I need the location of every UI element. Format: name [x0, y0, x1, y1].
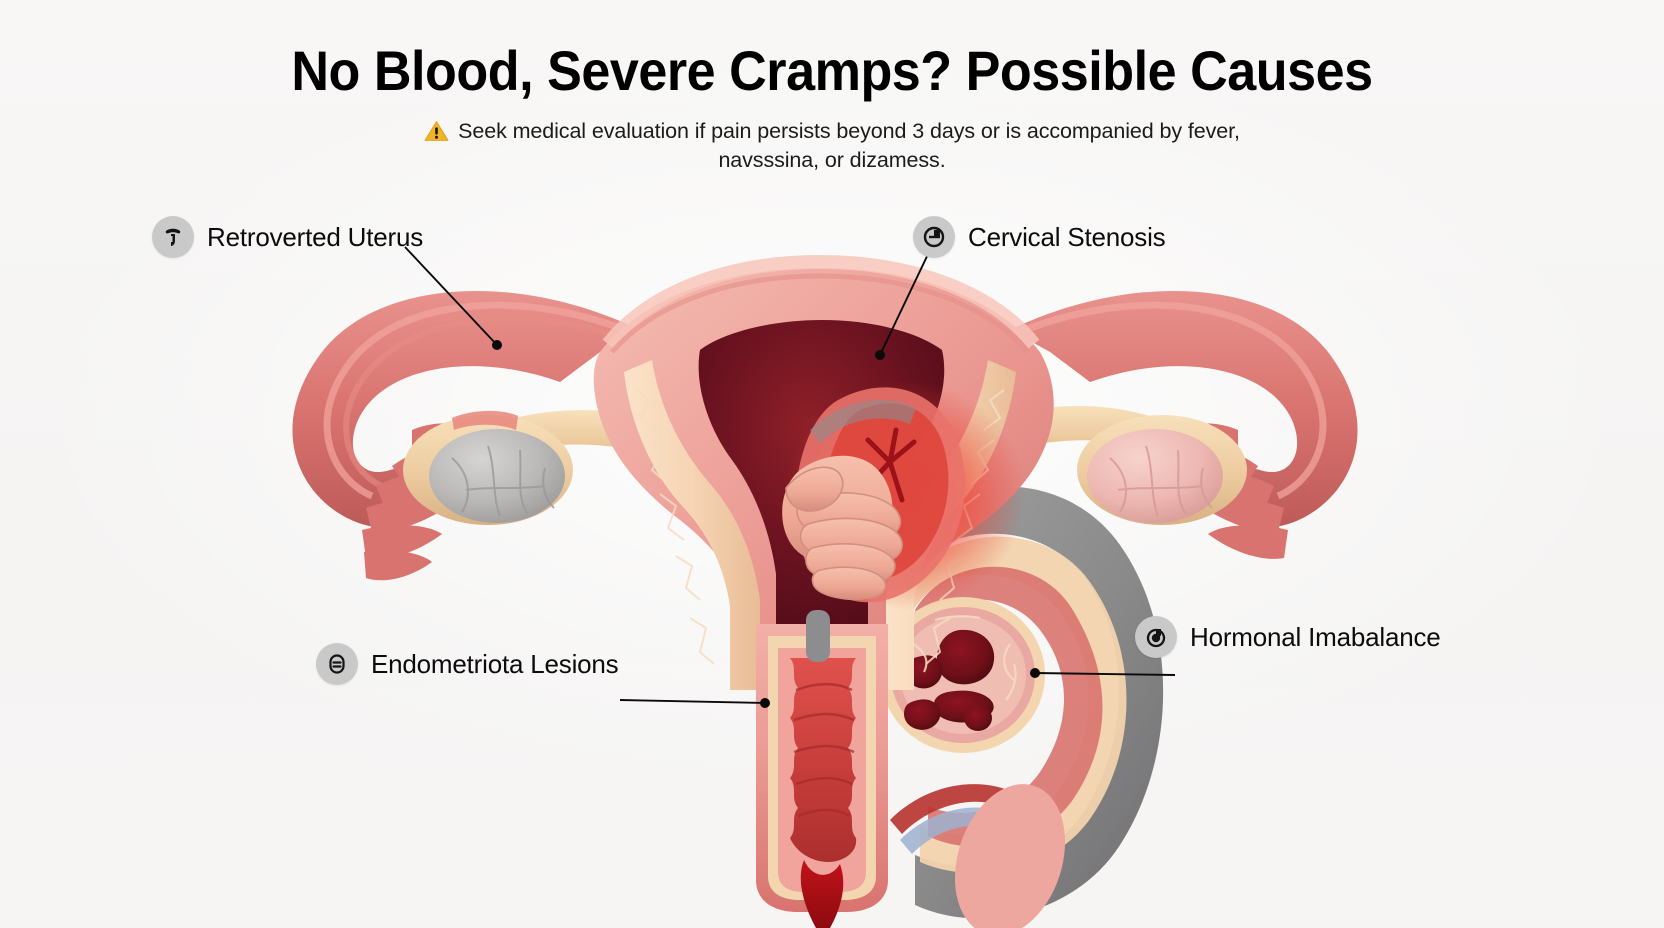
lesion-capsule-icon [316, 643, 358, 685]
page-title: No Blood, Severe Cramps? Possible Causes [58, 42, 1606, 101]
cervix-and-vaginal-canal [756, 610, 888, 912]
callout-retroverted-uterus[interactable]: Retroverted Uterus [152, 216, 423, 258]
warning-subtitle-line-1: Seek medical evaluation if pain persists… [362, 117, 1302, 146]
hormone-drop-icon [1135, 616, 1177, 658]
callout-endometriota-lesions[interactable]: Endometriota Lesions [316, 643, 618, 685]
cervix-glyph-icon [913, 216, 955, 258]
infographic-poster: No Blood, Severe Cramps? Possible Causes… [0, 0, 1664, 928]
callout-label: Retroverted Uterus [207, 222, 423, 253]
uterus-glyph-icon [152, 216, 194, 258]
right-ovary [1077, 415, 1247, 525]
callout-label: Endometriota Lesions [371, 649, 618, 680]
header: No Blood, Severe Cramps? Possible Causes… [0, 0, 1664, 175]
callout-label: Cervical Stenosis [968, 222, 1165, 253]
callout-label: Hormonal Imabalance [1190, 622, 1441, 653]
callout-cervical-stenosis[interactable]: Cervical Stenosis [913, 216, 1165, 258]
warning-triangle-icon [424, 120, 449, 142]
warning-text-line-2: navsssina, or dizamess. [362, 146, 1302, 175]
warning-subtitle: Seek medical evaluation if pain persists… [362, 117, 1302, 175]
warning-text-line-1: Seek medical evaluation if pain persists… [458, 117, 1240, 146]
callout-hormonal-imabalance[interactable]: Hormonal Imabalance [1135, 616, 1441, 658]
